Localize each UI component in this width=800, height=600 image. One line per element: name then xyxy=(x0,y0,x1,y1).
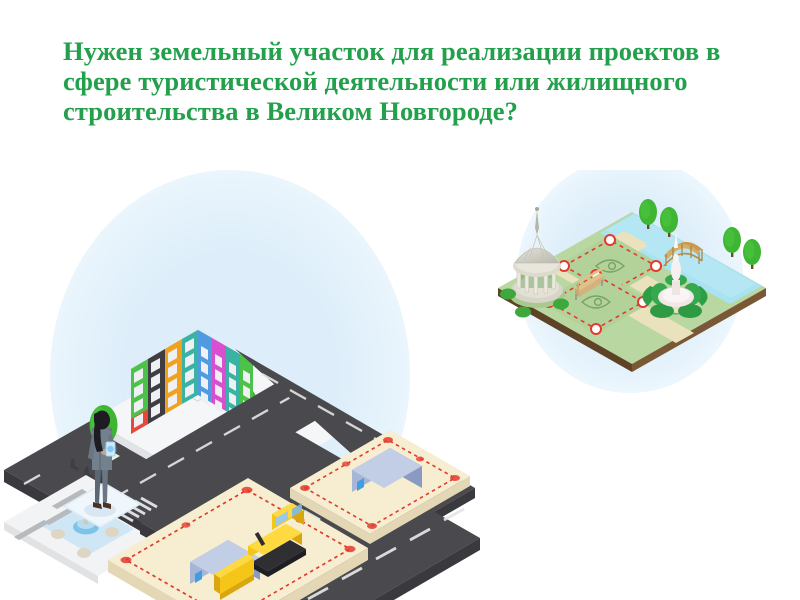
illustration-group xyxy=(0,170,800,600)
phone-in-hand xyxy=(104,442,117,456)
park-tree-4 xyxy=(743,239,761,269)
page-title: Нужен земельный участок для реализации п… xyxy=(63,36,763,126)
slide-canvas: Нужен земельный участок для реализации п… xyxy=(0,0,800,600)
